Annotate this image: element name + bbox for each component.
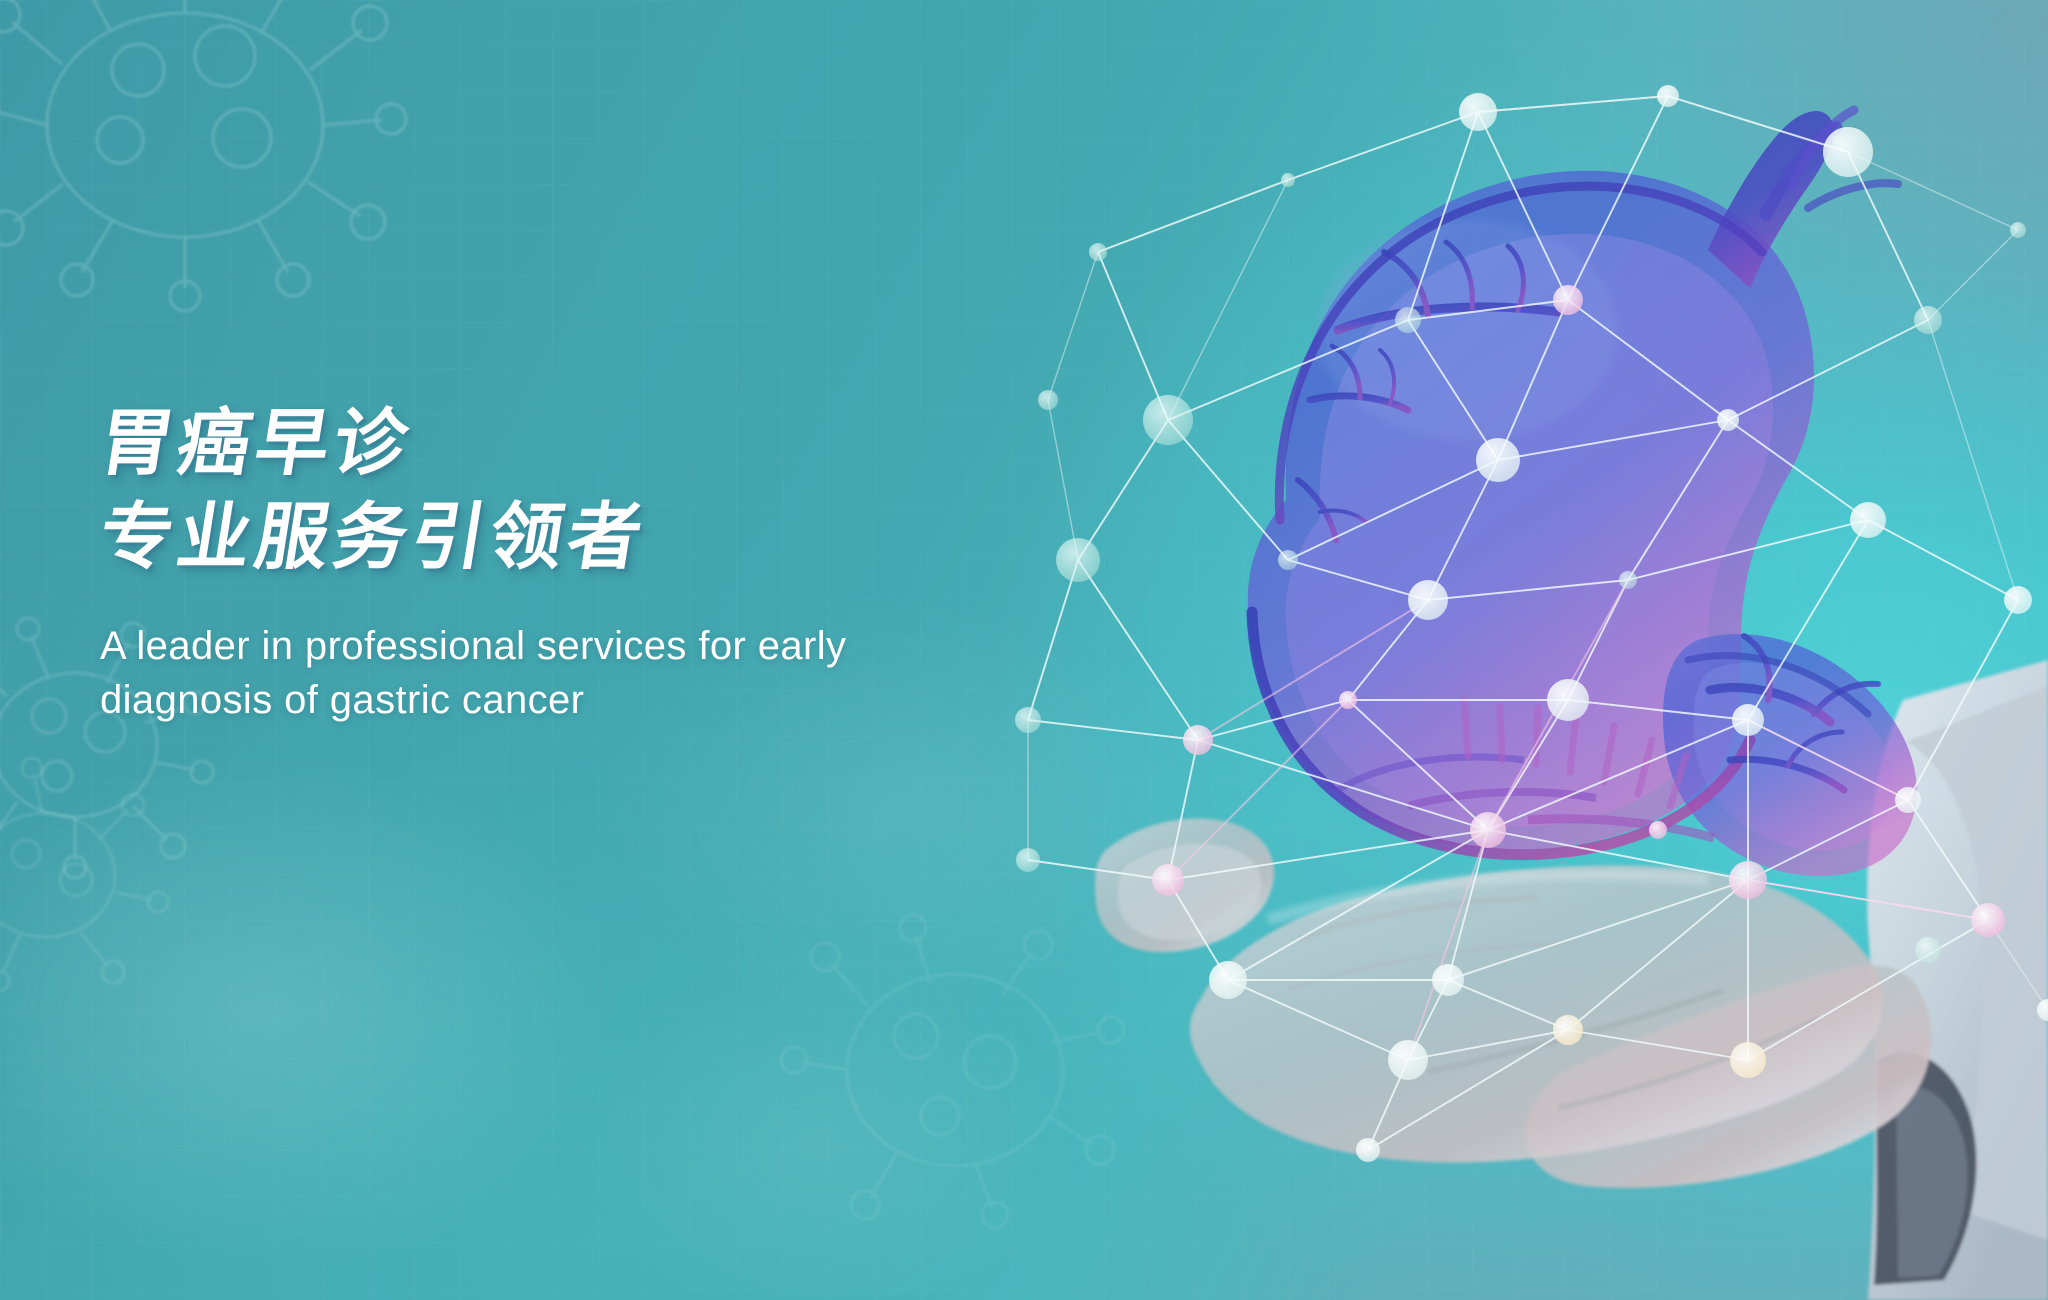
subheadline-line-1: A leader in professional services for ea… xyxy=(100,619,900,673)
headline-line-1: 胃癌早诊 xyxy=(93,400,1087,487)
headline-line-2: 专业服务引领者 xyxy=(93,494,1087,581)
hero-banner: 胃癌早诊 专业服务引领者 A leader in professional se… xyxy=(0,0,2048,1300)
virus-cell-icon-top-left xyxy=(0,0,400,290)
virus-cell-icon-bottom-left xyxy=(0,760,160,990)
stomach-illustration xyxy=(1248,110,1917,876)
subheadline-line-2: diagnosis of gastric cancer xyxy=(100,673,900,727)
hero-copy: 胃癌早诊 专业服务引领者 A leader in professional se… xyxy=(100,400,1080,727)
subheadline: A leader in professional services for ea… xyxy=(100,619,900,727)
